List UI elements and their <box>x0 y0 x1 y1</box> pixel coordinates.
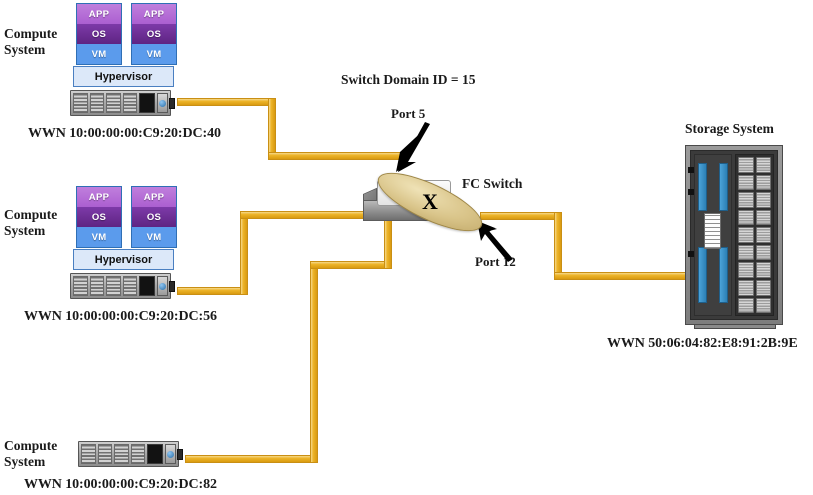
storage-left-bay <box>694 154 732 316</box>
vm-label-segment: VM <box>77 227 121 247</box>
storage-drive-bays <box>735 154 774 316</box>
storage-system-device[interactable] <box>685 145 783 325</box>
compute-system-1-vm-row: APP OS VM APP OS VM <box>76 3 177 65</box>
vm-os-segment: OS <box>132 24 176 44</box>
server-hba-port <box>169 281 175 292</box>
vm-box[interactable]: APP OS VM <box>76 186 122 248</box>
vm-app-segment: APP <box>77 4 121 24</box>
switch-domain-id-label: Switch Domain ID = 15 <box>341 72 475 88</box>
cable-cs1-seg-h2 <box>268 152 403 160</box>
storage-port-panel <box>719 163 728 211</box>
cable-cs1-seg-h1 <box>177 98 276 106</box>
hypervisor-bar-1: Hypervisor <box>73 66 174 87</box>
server-power-icon <box>157 93 168 113</box>
vm-app-segment: APP <box>77 187 121 207</box>
vm-label-segment: VM <box>132 227 176 247</box>
compute-system-1-label: ComputeSystem <box>4 26 57 57</box>
server-panel-icon <box>139 276 155 296</box>
server-power-icon <box>157 276 168 296</box>
vm-box[interactable]: APP OS VM <box>76 3 122 65</box>
vm-app-segment: APP <box>132 187 176 207</box>
storage-drive-column <box>738 157 753 313</box>
vm-box[interactable]: APP OS VM <box>131 186 177 248</box>
hypervisor-bar-2: Hypervisor <box>73 249 174 270</box>
server-vents <box>73 276 137 296</box>
compute-system-1-wwn: WWN 10:00:00:00:C9:20:DC:40 <box>28 126 221 142</box>
compute-system-2-vm-row: APP OS VM APP OS VM <box>76 186 177 248</box>
cable-cs3-seg-h2 <box>310 261 392 269</box>
cable-storage-seg-h2 <box>554 272 688 280</box>
diagram-canvas: ComputeSystem APP OS VM APP OS VM Hyperv… <box>0 0 813 495</box>
cable-storage-seg-v <box>554 212 562 280</box>
storage-connector-tab <box>688 251 694 257</box>
vm-label-segment: VM <box>132 44 176 64</box>
server-hba-port <box>177 449 183 460</box>
storage-port-panel <box>698 247 707 303</box>
storage-system-wwn: WWN 50:06:04:82:E8:91:2B:9E <box>607 336 798 352</box>
cable-cs3-seg-v <box>310 261 318 463</box>
server-vents <box>73 93 137 113</box>
server-hba-port <box>169 98 175 109</box>
compute-system-3-wwn: WWN 10:00:00:00:C9:20:DC:82 <box>24 477 217 493</box>
compute-system-2-wwn: WWN 10:00:00:00:C9:20:DC:56 <box>24 309 217 325</box>
cable-cs3-seg-h1 <box>185 455 318 463</box>
server-vents <box>81 444 145 464</box>
storage-connector-tab <box>688 167 694 173</box>
compute-system-3-label: ComputeSystem <box>4 438 57 469</box>
storage-port-panel <box>698 163 707 211</box>
cable-cs1-seg-v <box>268 98 276 160</box>
vm-label-segment: VM <box>77 44 121 64</box>
compute-system-2-label: ComputeSystem <box>4 207 57 238</box>
vm-app-segment: APP <box>132 4 176 24</box>
storage-chassis <box>690 150 778 320</box>
storage-port-panel <box>719 247 728 303</box>
cable-cs2-seg-v <box>240 211 248 295</box>
storage-mesh-panel <box>704 213 721 250</box>
server-power-icon <box>165 444 176 464</box>
storage-system-title: Storage System <box>685 121 774 137</box>
port-5-arrow-icon <box>392 122 438 174</box>
vm-os-segment: OS <box>77 24 121 44</box>
storage-base <box>694 324 776 329</box>
vm-box[interactable]: APP OS VM <box>131 3 177 65</box>
storage-drive-column <box>756 157 771 313</box>
port-5-label: Port 5 <box>391 107 425 122</box>
compute-server-1[interactable] <box>70 90 171 116</box>
vm-os-segment: OS <box>77 207 121 227</box>
storage-connector-tab <box>688 189 694 195</box>
switch-fault-x-marker: X <box>422 191 438 213</box>
fc-switch-device[interactable]: X <box>363 180 493 226</box>
vm-os-segment: OS <box>132 207 176 227</box>
server-panel-icon <box>139 93 155 113</box>
server-panel-icon <box>147 444 163 464</box>
compute-server-3[interactable] <box>78 441 179 467</box>
cable-cs2-seg-h1 <box>177 287 248 295</box>
compute-server-2[interactable] <box>70 273 171 299</box>
